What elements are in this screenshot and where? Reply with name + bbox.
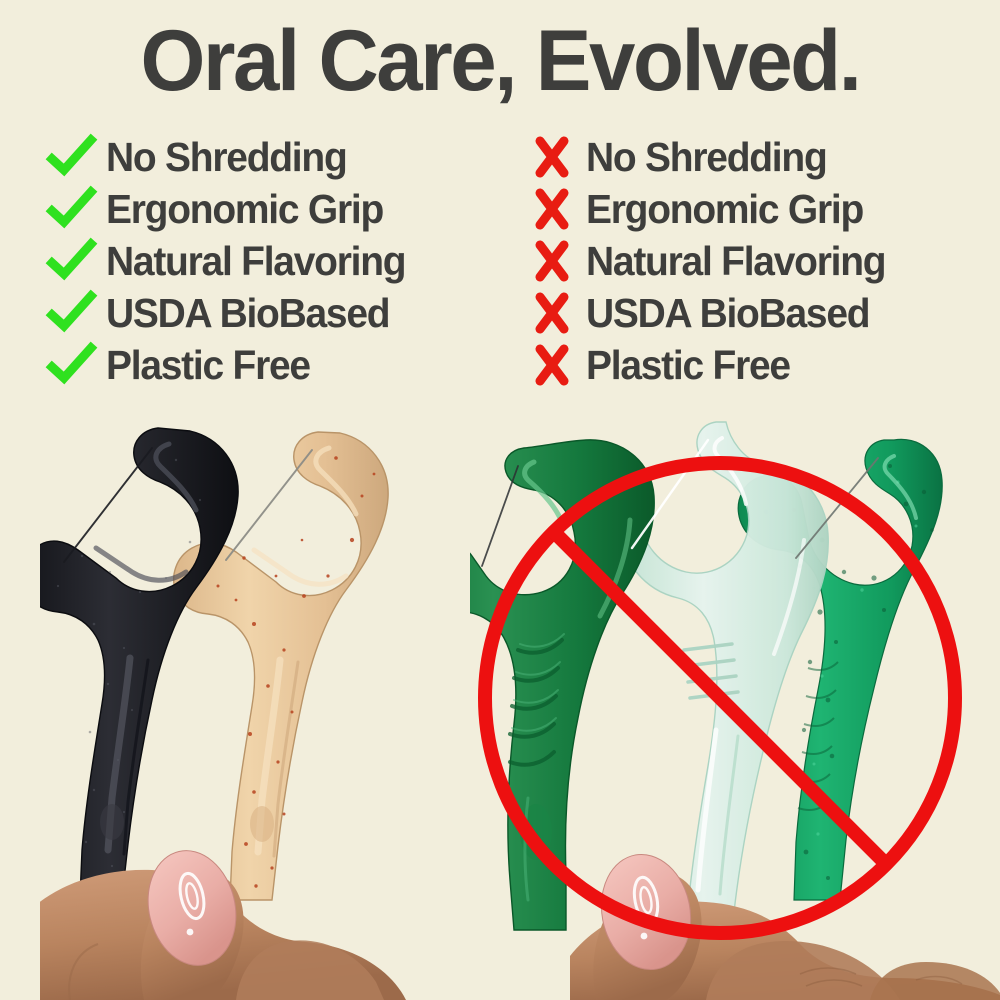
drawback-row: No Shredding — [528, 131, 998, 183]
benefit-row: No Shredding — [48, 131, 528, 183]
benefit-label: No Shredding — [106, 137, 347, 178]
plastic-floss-picks-photo — [470, 400, 1000, 1000]
benefit-row: USDA BioBased — [48, 287, 528, 339]
benefit-row: Plastic Free — [48, 339, 528, 391]
benefit-label: Natural Flavoring — [106, 241, 405, 282]
check-icon — [48, 341, 96, 389]
benefits-column-others: No Shredding Ergonomic Grip Natural Flav… — [528, 131, 998, 391]
benefits-column-ours: No Shredding Ergonomic Grip Natural Flav… — [48, 131, 528, 391]
drawback-row: Ergonomic Grip — [528, 183, 998, 235]
hand-holding-picks — [570, 847, 1000, 1000]
benefit-row: Ergonomic Grip — [48, 183, 528, 235]
drawback-row: Plastic Free — [528, 339, 998, 391]
floss-pick-green-dark — [470, 440, 654, 930]
drawback-label: Plastic Free — [586, 345, 790, 386]
check-icon — [48, 185, 96, 233]
drawback-row: USDA BioBased — [528, 287, 998, 339]
check-icon — [48, 237, 96, 285]
cross-icon — [528, 237, 576, 285]
drawback-label: Natural Flavoring — [586, 241, 885, 282]
floss-pick-black — [40, 428, 238, 898]
drawback-row: Natural Flavoring — [528, 235, 998, 287]
check-icon — [48, 289, 96, 337]
eco-floss-picks-photo — [40, 400, 480, 1000]
benefit-label: Ergonomic Grip — [106, 189, 383, 230]
benefit-label: USDA BioBased — [106, 293, 389, 334]
drawback-label: No Shredding — [586, 137, 827, 178]
cross-icon — [528, 341, 576, 389]
page-title: Oral Care, Evolved. — [15, 18, 985, 104]
drawback-label: Ergonomic Grip — [586, 189, 863, 230]
benefit-row: Natural Flavoring — [48, 235, 528, 287]
ad-creative: Oral Care, Evolved. No Shredding Ergonom… — [0, 0, 1000, 1000]
benefit-label: Plastic Free — [106, 345, 310, 386]
cross-icon — [528, 289, 576, 337]
drawback-label: USDA BioBased — [586, 293, 869, 334]
cross-icon — [528, 133, 576, 181]
cross-icon — [528, 185, 576, 233]
check-icon — [48, 133, 96, 181]
